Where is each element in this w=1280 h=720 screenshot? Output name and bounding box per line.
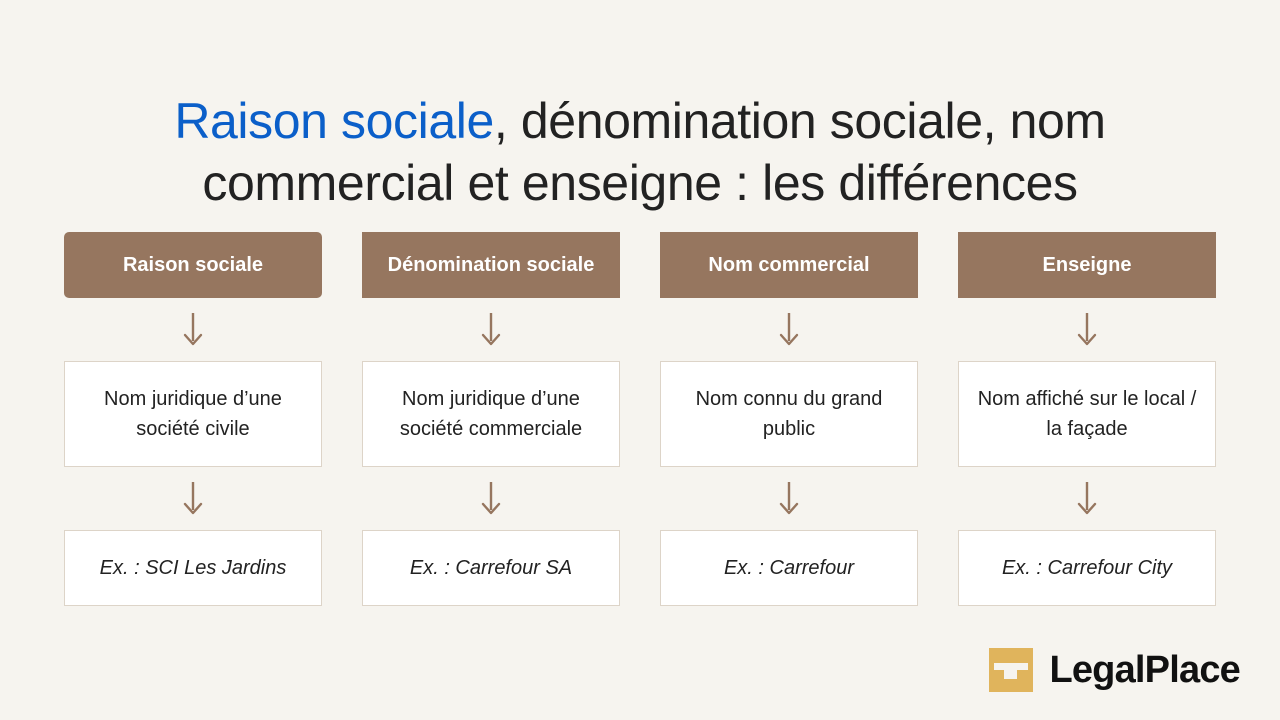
- column-example: Ex. : Carrefour SA: [362, 530, 620, 606]
- arrow-down-icon: [958, 298, 1216, 361]
- legalplace-mark-icon: [989, 648, 1033, 692]
- column-example: Ex. : Carrefour City: [958, 530, 1216, 606]
- page-title-highlight: Raison sociale: [174, 93, 494, 149]
- column-definition: Nom affiché sur le local / la façade: [958, 361, 1216, 467]
- logo-mark-tab: [1004, 663, 1017, 679]
- diagram-column-enseigne: Enseigne Nom affiché sur le local / la f…: [958, 232, 1216, 606]
- arrow-down-icon: [660, 467, 918, 530]
- page-title: Raison sociale, dénomination sociale, no…: [0, 90, 1280, 214]
- column-example: Ex. : SCI Les Jardins: [64, 530, 322, 606]
- column-header: Dénomination sociale: [362, 232, 620, 298]
- column-header: Raison sociale: [64, 232, 322, 298]
- arrow-down-icon: [362, 467, 620, 530]
- column-definition: Nom juridique d’une société civile: [64, 361, 322, 467]
- column-header: Nom commercial: [660, 232, 918, 298]
- diagram-column-raison-sociale: Raison sociale Nom juridique d’une socié…: [64, 232, 322, 606]
- column-definition: Nom juridique d’une société commerciale: [362, 361, 620, 467]
- column-example: Ex. : Carrefour: [660, 530, 918, 606]
- legalplace-logo: LegalPlace: [989, 648, 1240, 692]
- arrow-down-icon: [64, 298, 322, 361]
- arrow-down-icon: [958, 467, 1216, 530]
- diagram-column-nom-commercial: Nom commercial Nom connu du grand public…: [660, 232, 918, 606]
- column-header: Enseigne: [958, 232, 1216, 298]
- diagram-column-denomination-sociale: Dénomination sociale Nom juridique d’une…: [362, 232, 620, 606]
- brand-name: LegalPlace: [1049, 649, 1240, 692]
- column-definition: Nom connu du grand public: [660, 361, 918, 467]
- arrow-down-icon: [362, 298, 620, 361]
- comparison-diagram: Raison sociale Nom juridique d’une socié…: [64, 232, 1216, 606]
- arrow-down-icon: [64, 467, 322, 530]
- arrow-down-icon: [660, 298, 918, 361]
